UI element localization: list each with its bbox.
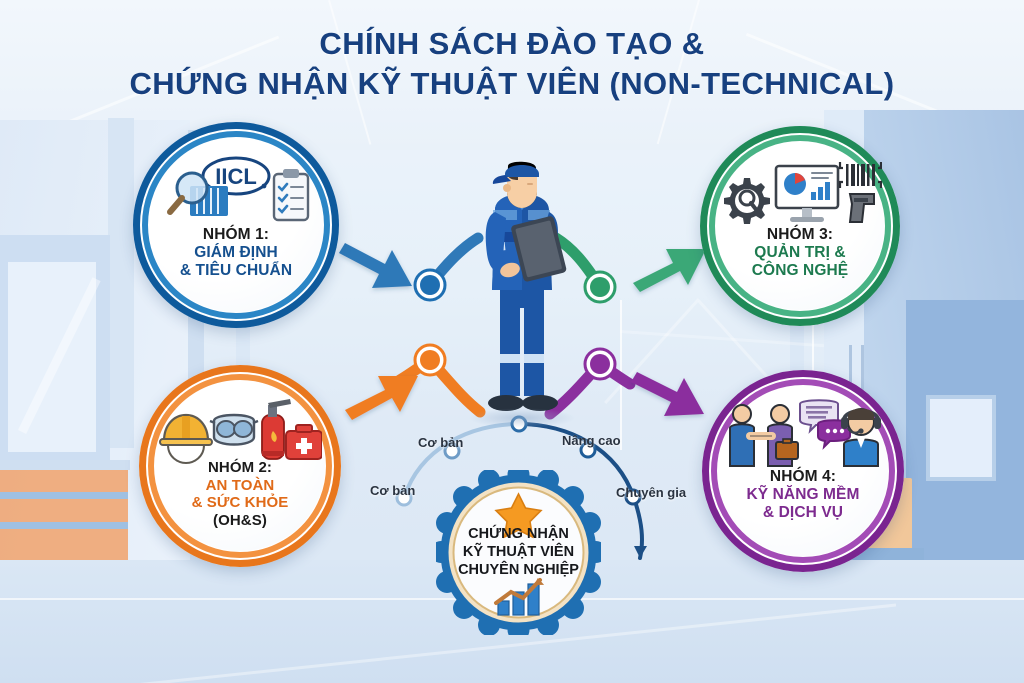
handshake-icon — [730, 405, 798, 466]
hard-hat-icon — [160, 415, 212, 463]
group-3-icons — [718, 154, 882, 232]
group-3-line2: QUẢN TRỊ & — [752, 244, 849, 262]
gear-wrench-icon — [724, 178, 770, 224]
group-4-label: NHÓM 4: KỸ NĂNG MỀM & DỊCH VỤ — [746, 468, 859, 522]
figure-shadow — [468, 408, 576, 428]
safety-goggles-icon — [210, 415, 258, 445]
group-1-content: IICL — [149, 138, 323, 312]
certificate-line-1: CHỨNG NHẬN — [436, 526, 601, 544]
group-2-head: NHÓM 2: — [192, 459, 289, 477]
technician-illustration — [462, 158, 582, 428]
group-1-circle[interactable]: IICL — [133, 122, 339, 328]
group-2-icons — [158, 391, 322, 469]
hub-blue — [420, 275, 440, 295]
group-2-line3: & SỨC KHỎE — [192, 494, 289, 512]
group-1-icon-set: IICL — [152, 156, 320, 230]
hub-orange — [420, 350, 440, 370]
arrow-green — [633, 249, 706, 292]
group-4-icons — [720, 396, 886, 474]
group-2-label: NHÓM 2: AN TOÀN & SỨC KHỎE (OH&S) — [192, 459, 289, 529]
arrow-blue — [339, 243, 412, 288]
first-aid-kit-icon — [286, 425, 322, 459]
arrow-purple — [631, 372, 704, 416]
group-3-head: NHÓM 3: — [752, 226, 849, 244]
svg-text:IICL: IICL — [215, 164, 257, 189]
group-1-line2: GIÁM ĐỊNH — [180, 244, 292, 262]
group-3-content: NHÓM 3: QUẢN TRỊ & CÔNG NGHỆ — [716, 142, 884, 310]
infographic-canvas: CHÍNH SÁCH ĐÀO TẠO & CHỨNG NHẬN KỸ THUẬT… — [0, 0, 1024, 683]
hub-purple — [590, 354, 610, 374]
group-4-line3: & DỊCH VỤ — [746, 504, 859, 522]
group-4-icon-set — [720, 398, 886, 474]
progression-label-3: Nâng cao — [562, 433, 621, 448]
clipboard-checklist-icon — [274, 169, 308, 220]
group-3-line3: CÔNG NGHỆ — [752, 262, 849, 280]
group-4-circle[interactable]: NHÓM 4: KỸ NĂNG MỀM & DỊCH VỤ — [702, 370, 904, 572]
group-1-label: NHÓM 1: GIÁM ĐỊNH & TIÊU CHUẨN — [180, 226, 292, 280]
barcode-scanner-icon — [840, 162, 881, 222]
group-2-line2: AN TOÀN — [192, 477, 289, 495]
technician-figure — [462, 158, 582, 428]
certificate-line-3: CHUYÊN NGHIỆP — [436, 562, 601, 580]
group-1-icons: IICL — [152, 152, 320, 230]
group-2-line4: (OH&S) — [192, 512, 289, 530]
group-4-head: NHÓM 4: — [746, 468, 859, 486]
hub-green — [590, 277, 610, 297]
progression-arrow-head — [634, 546, 647, 558]
progression-label-4: Chuyên gia — [616, 485, 686, 500]
progression-label-2: Cơ bản — [418, 435, 463, 450]
monitor-dashboard-icon — [776, 166, 838, 222]
group-4-content: NHÓM 4: KỸ NĂNG MỀM & DỊCH VỤ — [718, 386, 888, 556]
group-3-circle[interactable]: NHÓM 3: QUẢN TRỊ & CÔNG NGHỆ — [700, 126, 900, 326]
group-2-icon-set — [158, 395, 322, 469]
group-2-content: NHÓM 2: AN TOÀN & SỨC KHỎE (OH&S) — [155, 381, 325, 551]
group-1-line3: & TIÊU CHUẨN — [180, 262, 292, 280]
group-1-head: NHÓM 1: — [180, 226, 292, 244]
group-3-label: NHÓM 3: QUẢN TRỊ & CÔNG NGHỆ — [752, 226, 849, 280]
progression-label-1: Cơ bản — [370, 483, 415, 498]
group-4-line2: KỸ NĂNG MỀM — [746, 486, 859, 504]
certificate-line-2: KỸ THUẬT VIÊN — [436, 544, 601, 562]
group-2-circle[interactable]: NHÓM 2: AN TOÀN & SỨC KHỎE (OH&S) — [139, 365, 341, 567]
certificate-text: CHỨNG NHẬN KỸ THUẬT VIÊN CHUYÊN NGHIỆP — [436, 526, 601, 580]
arrow-orange — [345, 376, 418, 420]
group-3-icon-set — [718, 158, 882, 232]
certificate-badge[interactable]: CHỨNG NHẬN KỸ THUẬT VIÊN CHUYÊN NGHIỆP — [436, 470, 601, 635]
